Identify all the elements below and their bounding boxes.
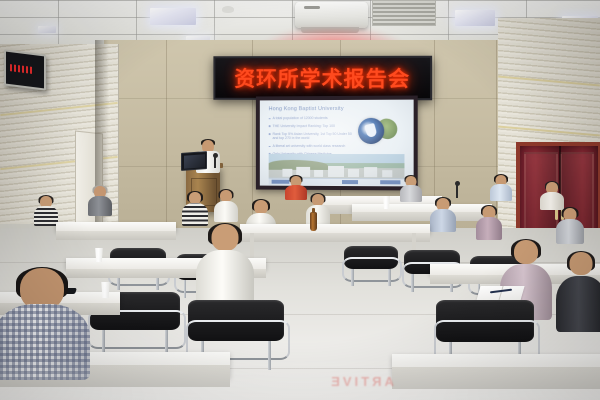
- slide-title: Hong Kong Baptist University: [269, 106, 344, 112]
- slide-bullet: A liberal art university with world clas…: [269, 144, 354, 149]
- audience-person: [196, 224, 254, 308]
- audience-person: [182, 192, 208, 226]
- wall-led-display: [4, 49, 46, 90]
- audience-person: [88, 186, 112, 216]
- image-watermark: ARTIVE: [300, 372, 422, 392]
- smoke-detector-icon: [222, 6, 234, 13]
- projected-slide: Hong Kong Baptist University A total pop…: [260, 100, 414, 187]
- audience-person: [540, 182, 564, 210]
- audience-person: [34, 196, 58, 226]
- audience-person: [556, 252, 600, 332]
- audience-person: [430, 198, 456, 232]
- desk-row: [56, 222, 176, 231]
- audience-person: [400, 176, 422, 202]
- ceiling-light-panel: [455, 10, 495, 26]
- audience-person-foreground: [0, 268, 90, 380]
- water-bottle: [310, 212, 317, 231]
- microphone: [214, 156, 216, 168]
- air-vent: [372, 0, 436, 26]
- audience-person: [556, 208, 584, 244]
- led-banner-text: 资环所学术报告会: [234, 63, 410, 93]
- audience-person: [476, 206, 502, 240]
- ceiling-light-panel: [38, 26, 56, 33]
- campus-photo: [269, 154, 405, 178]
- slide-bullet: Rank Top 5% Asian University, 1st Top 50…: [269, 132, 354, 141]
- slide-bullet: A total population of 12000 students: [269, 116, 354, 121]
- audience-person: [285, 176, 307, 200]
- slide-bullet: THE University Impact Ranking: Top 100: [269, 124, 354, 129]
- ceiling-projector: [295, 2, 368, 28]
- chair[interactable]: [344, 246, 398, 286]
- led-banner: 资环所学术报告会: [213, 56, 432, 101]
- ceiling-light-panel: [150, 8, 196, 25]
- microphone: [456, 184, 458, 198]
- projection-screen: Hong Kong Baptist University A total pop…: [256, 96, 418, 191]
- lecture-hall-photo: 资环所学术报告会 Hong Kong Baptist University A …: [0, 0, 600, 400]
- audience-person: [490, 175, 512, 201]
- desk-row: [352, 204, 492, 212]
- audience-person: [214, 190, 238, 222]
- desk-row-front: [392, 354, 600, 380]
- desk-row: [240, 224, 430, 233]
- laptop-on-lectern: [181, 151, 207, 171]
